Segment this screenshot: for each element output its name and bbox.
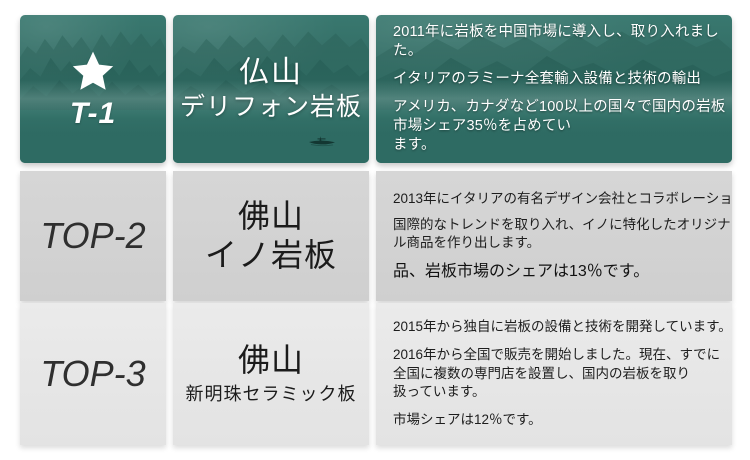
brand-name: 佛山 [238,197,304,236]
rank-label: T-1 [70,99,116,129]
column-gap [369,171,376,301]
column-gap [369,15,376,163]
rank-cell-1[interactable]: T-1 [20,15,166,163]
description-line: 2011年に岩板を中国市場に導入し、取り入れました。 [393,23,732,61]
rank-label: TOP-3 [40,356,145,392]
description-line: 2015年から独自に岩板の設備と技術を開発しています。 [393,318,732,337]
description-line: アメリカ、カナダなど100以上の国々で国内の岩板 市場シェア35％を占めてい ま… [393,98,732,155]
column-gap [166,303,173,445]
description-line: イタリアのラミーナ全套輸入設備と技術の輸出 [393,70,732,89]
description-line: 市場シェアは12％です。 [393,411,732,430]
description-cell-3[interactable]: 2015年から独自に岩板の設備と技術を開発しています。 2016年から全国で販売… [376,303,732,445]
ranking-row-2[interactable]: TOP-2 佛山 イノ岩板 2013年にイタリアの有名デザイン会社とコラボレーシ… [20,171,732,301]
description-cell-2[interactable]: 2013年にイタリアの有名デザイン会社とコラボレーションし 国際的なトレンドを取… [376,171,732,301]
star-icon [70,49,116,93]
ranking-table: T-1 仏山 デリフォン岩板 2011年に岩板を中国市場に導入し、取り [0,0,750,460]
description-line: 国際的なトレンドを取り入れ、イノに特化したオリジナ ル商品を作り出します。 [393,216,732,252]
rank-cell-3[interactable]: TOP-3 [20,303,166,445]
brand-name: 佛山 [238,341,304,379]
brand-subtitle: イノ岩板 [205,236,337,275]
column-gap [166,15,173,163]
brand-cell-3[interactable]: 佛山 新明珠セラミック板 [173,303,369,445]
boat-icon [305,135,339,147]
rank-label: TOP-2 [40,218,145,254]
description-line: 2016年から全国で販売を開始しました。現在、すでに 全国に複数の専門店を設置し… [393,346,732,402]
brand-cell-2[interactable]: 佛山 イノ岩板 [173,171,369,301]
ranking-row-3[interactable]: TOP-3 佛山 新明珠セラミック板 2015年から独自に岩板の設備と技術を開発… [20,303,732,445]
description-cell-1[interactable]: 2011年に岩板を中国市場に導入し、取り入れました。 イタリアのラミーナ全套輸入… [376,15,732,163]
description-line: 品、岩板市場のシェアは13％です。 [393,261,732,283]
rank-cell-2[interactable]: TOP-2 [20,171,166,301]
column-gap [369,303,376,445]
column-gap [166,171,173,301]
brand-cell-1[interactable]: 仏山 デリフォン岩板 [173,15,369,163]
brand-subtitle: デリフォン岩板 [180,92,362,123]
description-line: 2013年にイタリアの有名デザイン会社とコラボレーションし [393,190,732,208]
ranking-row-1[interactable]: T-1 仏山 デリフォン岩板 2011年に岩板を中国市場に導入し、取り [20,15,732,163]
brand-subtitle: 新明珠セラミック板 [186,382,357,407]
brand-name: 仏山 [239,55,303,92]
